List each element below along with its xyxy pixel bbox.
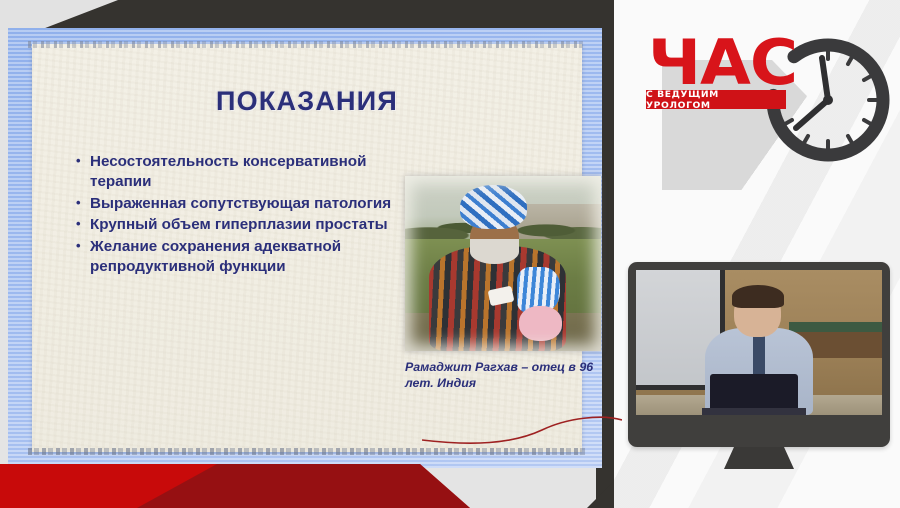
bullet-text: Крупный объем гиперплазии простаты: [90, 215, 396, 235]
slide-paper-surface: ПОКАЗАНИЯ • Несостоятельность консервати…: [32, 44, 582, 452]
webcam-video[interactable]: [636, 270, 882, 415]
logo-subtitle-box: С ВЕДУЩИМ УРОЛОГОМ: [646, 90, 786, 109]
slide-bullet-list: • Несостоятельность консервативной терап…: [76, 152, 396, 279]
webcam-laptop-base: [702, 408, 805, 415]
bullet-dot-icon: •: [76, 152, 90, 192]
list-item: • Несостоятельность консервативной терап…: [76, 152, 396, 192]
speaker-monitor: [628, 262, 890, 487]
photo-vignette: [405, 176, 601, 351]
webcam-green-shelf: [789, 322, 882, 332]
webcam-speaker-hair: [732, 285, 784, 308]
list-item: • Крупный объем гиперплазии простаты: [76, 215, 396, 235]
list-item: • Желание сохранения адекватной репродук…: [76, 237, 396, 277]
red-squiggle-decoration: [422, 400, 622, 446]
slide-title: ПОКАЗАНИЯ: [32, 86, 582, 117]
screen-root: ПОКАЗАНИЯ • Несостоятельность консервати…: [0, 0, 900, 508]
bullet-dot-icon: •: [76, 215, 90, 235]
list-item: • Выраженная сопутствующая патология: [76, 194, 396, 214]
logo-subtitle: С ВЕДУЩИМ УРОЛОГОМ: [646, 89, 786, 111]
presentation-slide: ПОКАЗАНИЯ • Несостоятельность консервати…: [8, 28, 602, 468]
program-logo: ЧАС С ВЕДУЩИМ УРОЛОГОМ: [640, 22, 890, 182]
bullet-dot-icon: •: [76, 194, 90, 214]
bullet-text: Желание сохранения адекватной репродукти…: [90, 237, 396, 277]
monitor-bezel: [628, 262, 890, 447]
bullet-text: Несостоятельность консервативной терапии: [90, 152, 396, 192]
monitor-lower-bezel: [636, 415, 882, 439]
monitor-stand: [724, 447, 794, 469]
bullet-text: Выраженная сопутствующая патология: [90, 194, 396, 214]
slide-photo: [405, 176, 601, 351]
webcam-speaker-tie: [753, 335, 765, 376]
photo-caption: Рамаджит Рагхав – отец в 96 лет. Индия: [405, 360, 605, 392]
bullet-dot-icon: •: [76, 237, 90, 277]
